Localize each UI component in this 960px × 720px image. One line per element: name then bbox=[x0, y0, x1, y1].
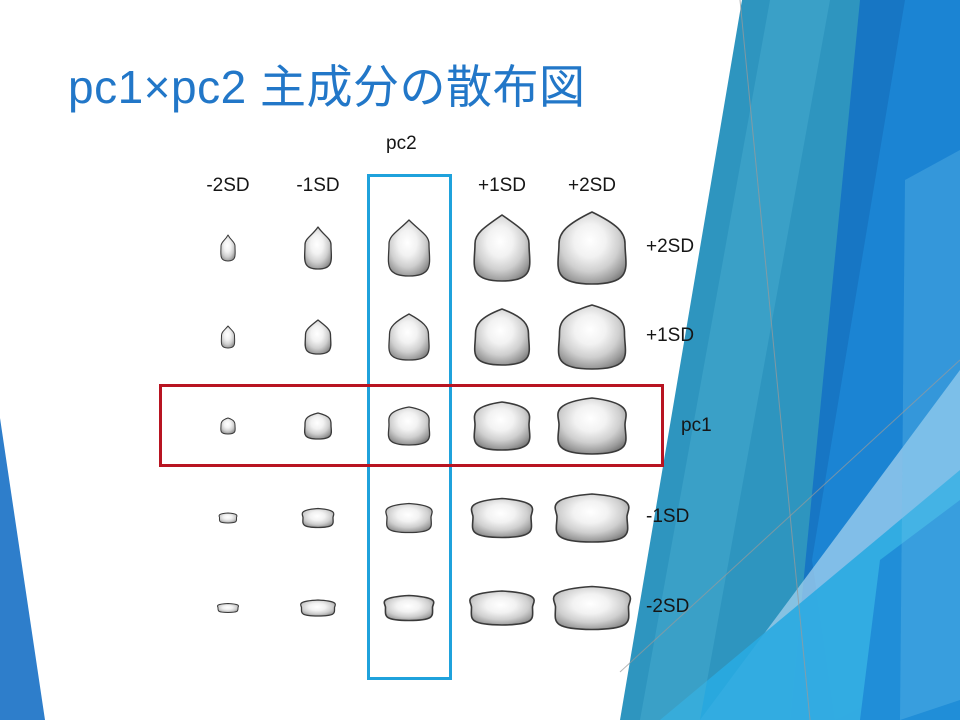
shape-cell-plus1SD-minus1SD bbox=[467, 493, 537, 544]
slide-canvas: pc1×pc2 主成分の散布図 pc2 pc1 -2SD -1SD +1SD +… bbox=[0, 0, 960, 720]
shape-cell-minus1SD-plus1SD bbox=[300, 314, 337, 360]
shape-cell-plus2SD-0SD bbox=[553, 392, 631, 460]
shape-cell-minus2SD-plus1SD bbox=[216, 320, 241, 354]
shape-cell-0SD-plus2SD bbox=[383, 214, 435, 282]
shape-cell-0SD-minus1SD bbox=[381, 498, 437, 539]
shape-cell-plus2SD-minus1SD bbox=[551, 488, 633, 548]
shape-cell-plus1SD-minus2SD bbox=[466, 585, 539, 631]
shape-cell-plus2SD-plus1SD bbox=[554, 299, 631, 375]
shape-cell-minus2SD-plus2SD bbox=[215, 229, 241, 267]
shape-cell-minus2SD-minus1SD bbox=[214, 507, 243, 529]
shape-cell-plus1SD-0SD bbox=[469, 396, 535, 456]
shape-cell-minus1SD-0SD bbox=[299, 407, 337, 445]
shape-cell-plus2SD-minus2SD bbox=[550, 581, 635, 636]
shape-cell-minus1SD-minus1SD bbox=[297, 503, 339, 534]
shape-scatter-grid bbox=[0, 0, 960, 720]
shape-cell-0SD-0SD bbox=[383, 401, 435, 451]
shape-cell-plus1SD-plus2SD bbox=[469, 209, 535, 287]
shape-cell-0SD-minus2SD bbox=[380, 590, 439, 627]
shape-cell-minus1SD-plus2SD bbox=[299, 221, 337, 275]
shape-cell-0SD-plus1SD bbox=[384, 308, 435, 366]
shape-cell-minus2SD-minus2SD bbox=[212, 598, 244, 619]
shape-cell-minus1SD-minus2SD bbox=[296, 594, 341, 622]
shape-cell-plus2SD-plus2SD bbox=[553, 206, 631, 290]
shape-cell-minus2SD-0SD bbox=[215, 412, 241, 440]
shape-cell-plus1SD-plus1SD bbox=[470, 303, 535, 371]
